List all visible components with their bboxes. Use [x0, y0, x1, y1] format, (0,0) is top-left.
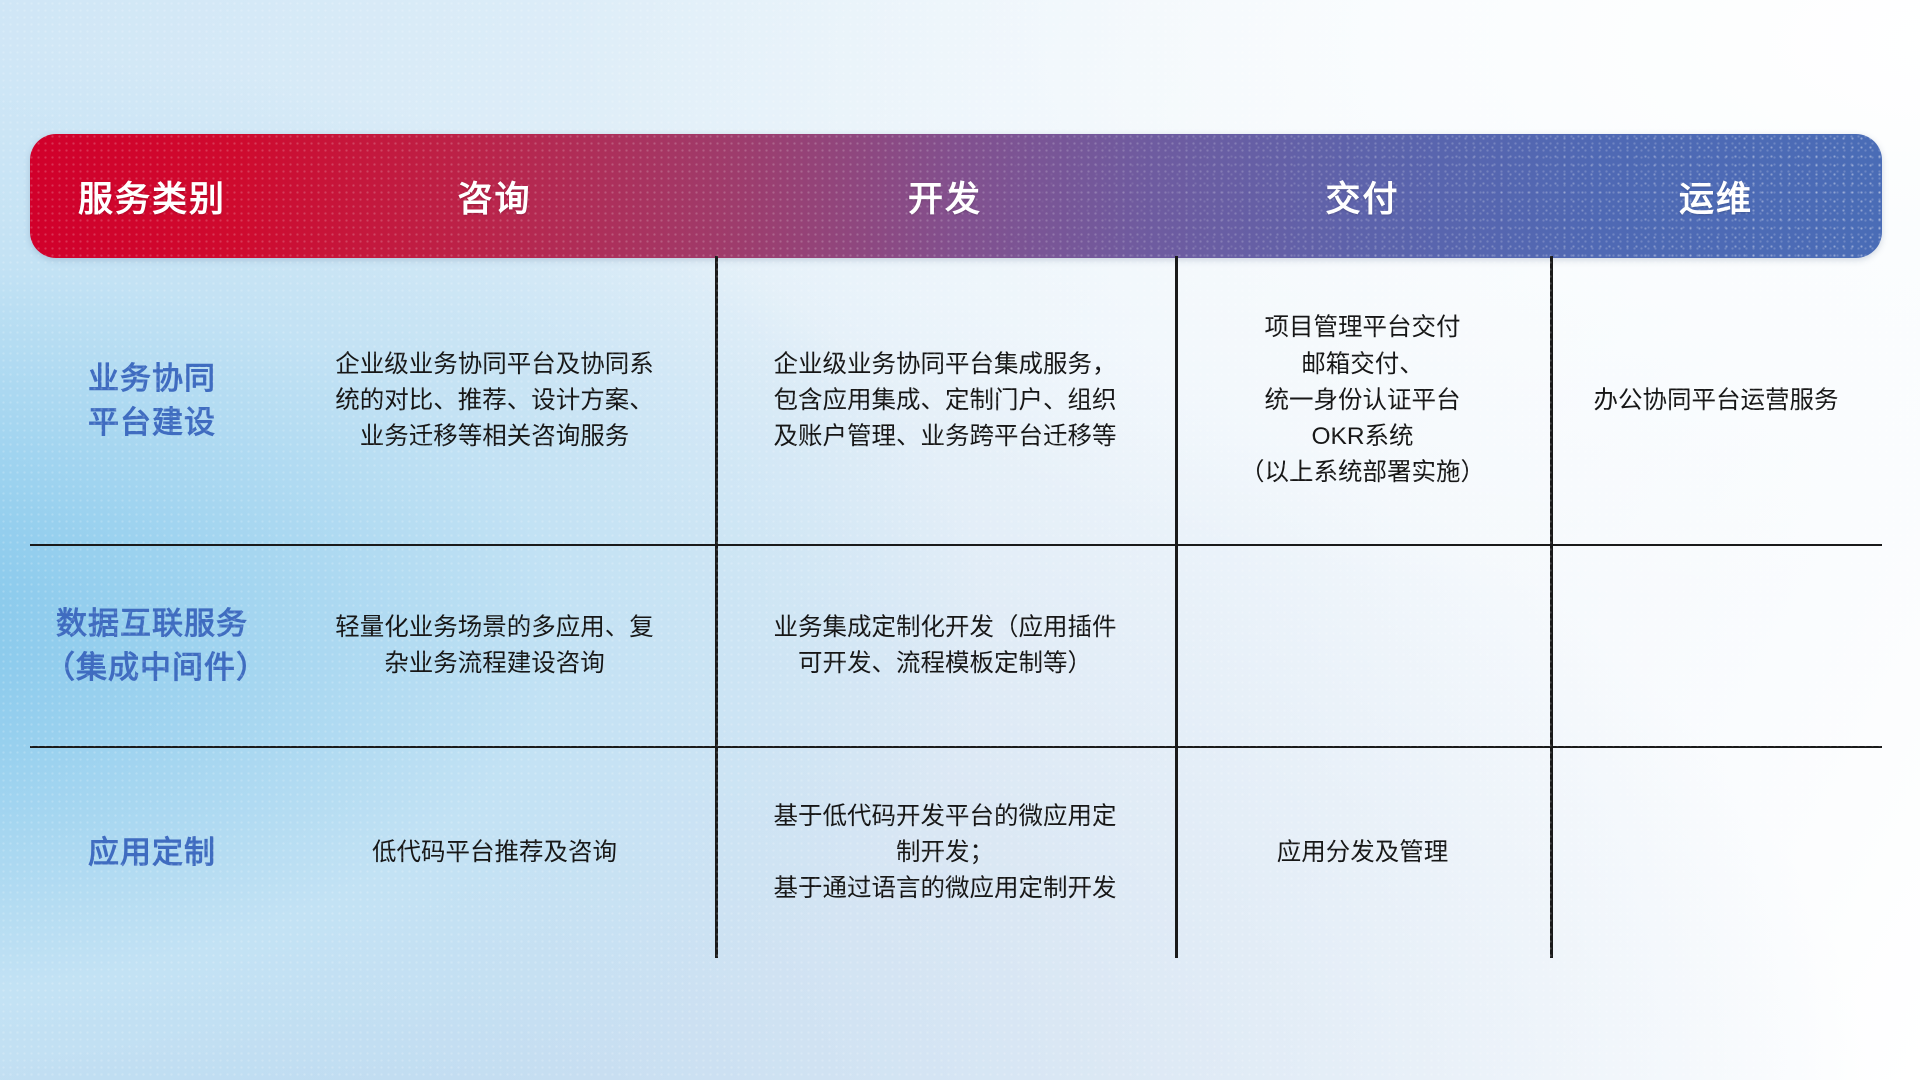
row-category-label: 应用定制 — [30, 748, 274, 958]
slide-canvas: 服务类别 咨询 开发 交付 运维 业务协同 平台建设 企业级业务协同平台及协同系… — [0, 0, 1920, 1080]
row-category-label: 数据互联服务 （集成中间件） — [30, 546, 274, 746]
column-header-development: 开发 — [715, 171, 1175, 222]
cell-consulting: 企业级业务协同平台及协同系 统的对比、推荐、设计方案、 业务迁移等相关咨询服务 — [274, 258, 715, 544]
cell-delivery: 项目管理平台交付 邮箱交付、 统一身份认证平台 OKR系统 （以上系统部署实施） — [1175, 258, 1550, 544]
cell-development: 业务集成定制化开发（应用插件 可开发、流程模板定制等） — [715, 546, 1175, 746]
cell-delivery — [1175, 546, 1550, 746]
cell-consulting: 轻量化业务场景的多应用、复 杂业务流程建设咨询 — [274, 546, 715, 746]
cell-delivery: 应用分发及管理 — [1175, 748, 1550, 958]
cell-development: 基于低代码开发平台的微应用定 制开发； 基于通过语言的微应用定制开发 — [715, 748, 1175, 958]
table-row: 数据互联服务 （集成中间件） 轻量化业务场景的多应用、复 杂业务流程建设咨询 业… — [30, 546, 1882, 748]
row-category-label: 业务协同 平台建设 — [30, 258, 274, 544]
cell-consulting: 低代码平台推荐及咨询 — [274, 748, 715, 958]
table-body: 业务协同 平台建设 企业级业务协同平台及协同系 统的对比、推荐、设计方案、 业务… — [30, 258, 1882, 958]
table-row: 业务协同 平台建设 企业级业务协同平台及协同系 统的对比、推荐、设计方案、 业务… — [30, 258, 1882, 546]
column-header-delivery: 交付 — [1175, 171, 1550, 222]
cell-operations — [1550, 546, 1882, 746]
cell-operations — [1550, 748, 1882, 958]
column-header-operations: 运维 — [1550, 171, 1882, 222]
table-row: 应用定制 低代码平台推荐及咨询 基于低代码开发平台的微应用定 制开发； 基于通过… — [30, 748, 1882, 958]
cell-operations: 办公协同平台运营服务 — [1550, 258, 1882, 544]
cell-development: 企业级业务协同平台集成服务， 包含应用集成、定制门户、组织 及账户管理、业务跨平… — [715, 258, 1175, 544]
column-header-consulting: 咨询 — [274, 171, 715, 222]
service-matrix-table: 服务类别 咨询 开发 交付 运维 业务协同 平台建设 企业级业务协同平台及协同系… — [30, 134, 1882, 958]
table-header-row: 服务类别 咨询 开发 交付 运维 — [30, 134, 1882, 258]
column-header-service-category: 服务类别 — [30, 171, 274, 222]
